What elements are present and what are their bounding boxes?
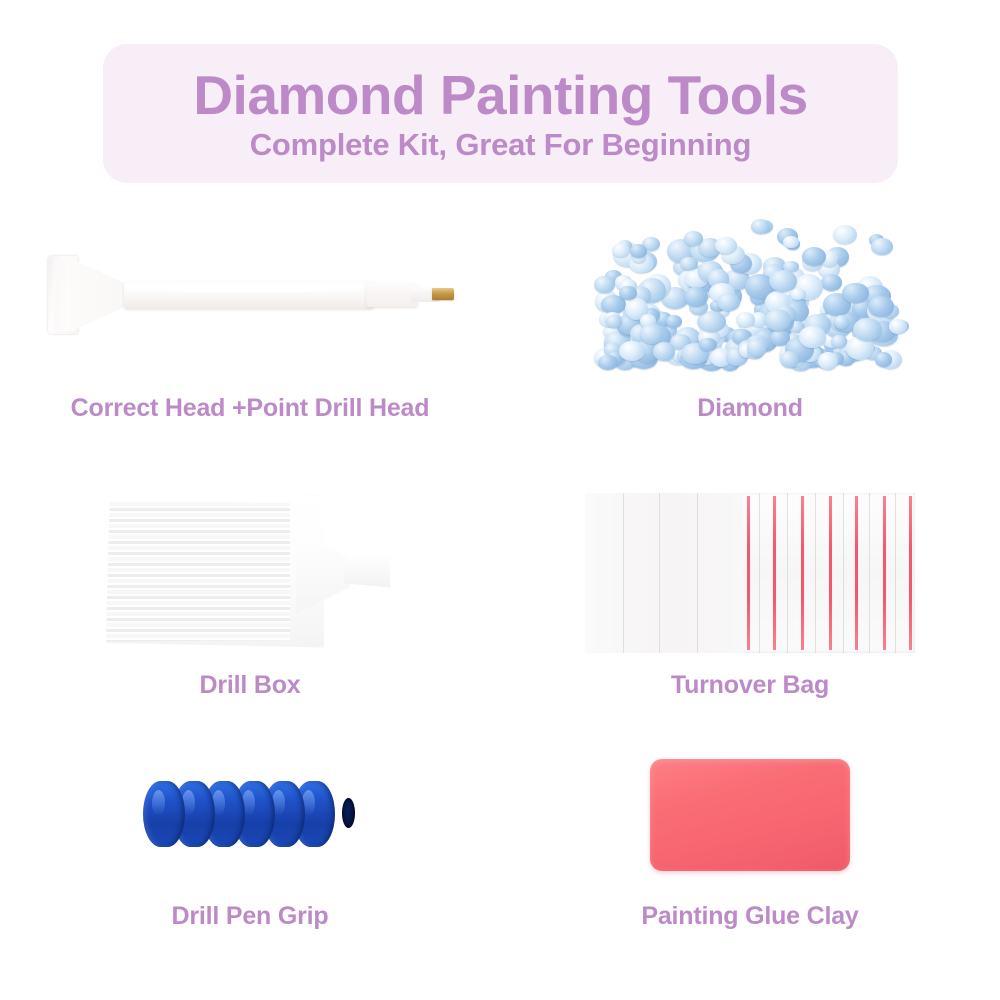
drill-box-handle xyxy=(344,554,390,588)
product-label-drill-box: Drill Box xyxy=(200,671,301,700)
turnover-bag-seal-stripe xyxy=(909,496,912,650)
correction-pen-image xyxy=(0,200,500,390)
turnover-bag-fold xyxy=(895,493,896,653)
pen-barrel-highlight xyxy=(132,285,360,292)
turnover-bag-fold xyxy=(759,493,760,653)
page-title: Diamond Painting Tools xyxy=(193,68,807,123)
product-label-correction-pen: Correct Head +Point Drill Head xyxy=(71,394,430,423)
diamond-drill xyxy=(619,341,645,360)
turnover-bag-seal-stripe xyxy=(773,496,776,650)
drill-pen-grip-opening xyxy=(342,798,355,828)
diamond-drill xyxy=(831,335,846,349)
turnover-bag-fold xyxy=(787,493,788,653)
diamond-drill xyxy=(842,283,869,304)
product-label-diamond: Diamond xyxy=(697,394,803,423)
drill-box-illustration xyxy=(100,488,400,658)
turnover-bag-seal-stripe xyxy=(883,496,886,650)
product-grid: Correct Head +Point Drill Head Diamond D… xyxy=(0,200,1000,1000)
drill-pen-grip-illustration xyxy=(143,775,358,855)
turnover-bag-seal-stripe xyxy=(801,496,804,650)
drill-pen-grip-bead xyxy=(143,781,185,847)
pen-head-flare xyxy=(70,258,128,332)
drill-box-grooves xyxy=(104,502,290,642)
diamond-drill xyxy=(736,312,755,327)
diamond-drills-illustration xyxy=(590,218,910,373)
diamond-drill xyxy=(751,219,770,234)
diamond-drill xyxy=(747,338,767,357)
diamond-drill xyxy=(717,293,739,310)
diamond-drill xyxy=(612,243,630,257)
turnover-bag-image xyxy=(500,480,1000,665)
product-label-turnover-bag: Turnover Bag xyxy=(671,671,829,700)
product-cell-drill-pen-grip: Drill Pen Grip xyxy=(0,730,500,970)
diamond-drill xyxy=(598,355,618,370)
turnover-bag-fold xyxy=(697,493,698,653)
turnover-bag-seal-stripe xyxy=(829,496,832,650)
diamond-drill xyxy=(818,352,838,370)
painting-glue-clay-image xyxy=(500,730,1000,900)
turnover-bag-fold xyxy=(843,493,844,653)
product-cell-painting-glue-clay: Painting Glue Clay xyxy=(500,730,1000,970)
header-banner: Diamond Painting Tools Complete Kit, Gre… xyxy=(103,44,898,183)
diamond-drill xyxy=(871,238,893,255)
turnover-bag-fold xyxy=(815,493,816,653)
drill-pen-grip-image xyxy=(0,730,500,900)
drill-box-image xyxy=(0,480,500,665)
diamond-drill xyxy=(640,324,663,344)
product-label-painting-glue-clay: Painting Glue Clay xyxy=(641,902,858,931)
diamond-drill xyxy=(889,319,907,333)
product-label-drill-pen-grip: Drill Pen Grip xyxy=(172,902,329,931)
turnover-bag-fold xyxy=(869,493,870,653)
diamond-drill xyxy=(666,315,682,328)
turnover-bag-clear-panel xyxy=(585,493,743,653)
diamond-drill xyxy=(799,326,826,347)
diamond-drill xyxy=(875,352,892,367)
turnover-bag-seal-stripe xyxy=(855,496,858,650)
turnover-bag-fold xyxy=(623,493,624,653)
diamond-drill xyxy=(853,318,881,341)
diamond-drill xyxy=(715,237,737,254)
diamond-drill xyxy=(780,351,799,368)
diamond-drill xyxy=(684,231,703,246)
correction-pen-illustration xyxy=(40,240,460,350)
diamond-drill xyxy=(821,274,842,291)
diamond-drill xyxy=(680,257,698,271)
turnover-bag-seal-stripe xyxy=(747,496,750,650)
product-cell-turnover-bag: Turnover Bag xyxy=(500,480,1000,730)
diamond-drill xyxy=(769,270,797,292)
diamond-image xyxy=(500,200,1000,390)
turnover-bag-illustration xyxy=(585,493,915,653)
diamond-drill xyxy=(684,287,708,307)
diamond-drill xyxy=(802,247,826,266)
diamond-drill xyxy=(790,288,807,300)
pen-point-drill-tip xyxy=(432,288,454,300)
product-cell-diamond: Diamond xyxy=(500,200,1000,480)
diamond-drill xyxy=(783,236,799,248)
diamond-drill xyxy=(765,309,791,331)
diamond-drill xyxy=(833,225,857,244)
diamond-drill xyxy=(834,315,849,329)
painting-glue-clay-illustration xyxy=(650,759,850,871)
page-subtitle: Complete Kit, Great For Beginning xyxy=(250,129,751,160)
turnover-bag-stripes xyxy=(743,493,915,653)
product-cell-drill-box: Drill Box xyxy=(0,480,500,730)
product-cell-correction-pen: Correct Head +Point Drill Head xyxy=(0,200,500,480)
turnover-bag-fold xyxy=(659,493,660,653)
